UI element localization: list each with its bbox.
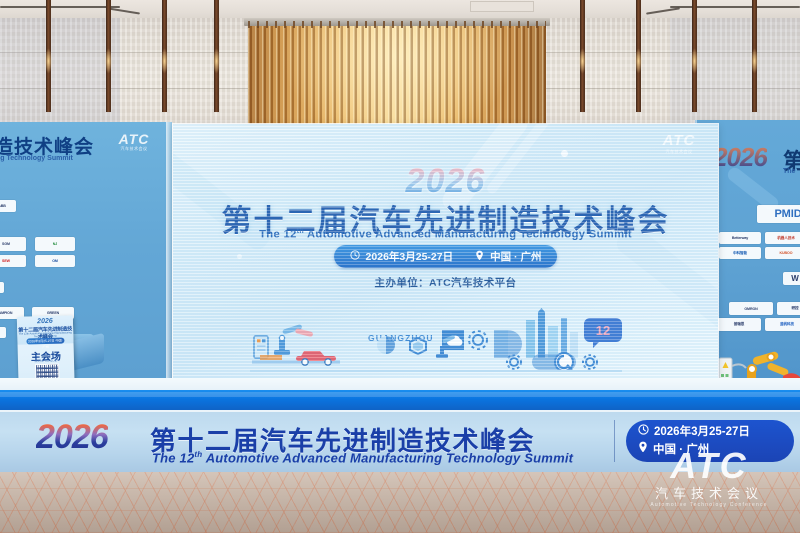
ceiling-cable-right xyxy=(670,6,800,8)
screen-title-en-base: The 12 xyxy=(259,229,297,241)
sponsor-logo: SEW xyxy=(0,255,26,267)
banner-top-line xyxy=(0,410,800,412)
screen-dot xyxy=(561,150,568,157)
screen-location: 中国 · 广州 xyxy=(490,249,541,264)
sponsor-logo: ABB xyxy=(0,200,16,212)
sponsor-logo: Betterway xyxy=(719,232,761,244)
screen-illustration: GUANGZHOU xyxy=(173,308,718,378)
clock-icon xyxy=(638,424,649,441)
left-board-edge xyxy=(166,122,173,400)
banner-title-en-sup: th xyxy=(194,450,202,459)
screen-host-line: 主办单位：ATC汽车技术平台 xyxy=(173,275,718,290)
gold-curtain xyxy=(248,18,546,130)
sponsor-logo: W xyxy=(783,272,800,285)
watermark-atc-cn: 汽车技术会议 xyxy=(624,487,794,500)
watermark-atc-en: Automotive Technology Conference xyxy=(624,503,794,508)
wall-shadow-left xyxy=(0,18,120,130)
wall-light-glow xyxy=(751,48,758,74)
curtain-hooks xyxy=(248,21,546,28)
wall-light-glow xyxy=(579,48,586,74)
banner-year: 2026 xyxy=(36,418,108,457)
sponsor-logo: 普瑞思 xyxy=(717,318,761,331)
banner-divider xyxy=(614,420,615,462)
conference-hall-photo: 造技术峰会 ing Technology Summit ATC 汽车技术会议 S… xyxy=(0,0,800,533)
stage-front-highlight xyxy=(0,392,800,397)
wall-light-glow xyxy=(45,48,52,74)
screen-date: 2026年3月25-27日 xyxy=(366,249,454,264)
pin-icon xyxy=(475,250,484,264)
banner-title-en-base: The 12 xyxy=(152,450,194,465)
screen-atc-text: ATC xyxy=(652,133,706,148)
sponsor-logo: KUBOO xyxy=(765,247,800,259)
sponsor-logo: NJ xyxy=(35,237,75,251)
main-led-screen: ATC ATC 汽车技术会议 2026 第十二届汽车先进制造技术峰会 The 1… xyxy=(173,124,718,382)
screen-atc-logo: ATC 汽车技术会议 xyxy=(652,133,706,154)
sponsor-logo: G-TECH xyxy=(0,282,4,293)
sponsor-logo: OMRON xyxy=(729,302,773,315)
left-board-atc-sub: 汽车技术会议 xyxy=(110,147,158,151)
banner-title-en-rest: Automotive Advanced Manufacturing Techno… xyxy=(206,450,573,465)
banner-atc-watermark: ATC 汽车技术会议 Automotive Technology Confere… xyxy=(624,448,794,508)
screen-date-location-pill: 2026年3月25-27日 中国 · 广州 xyxy=(334,245,558,268)
banner-title-en: The 12th Automotive Advanced Manufacturi… xyxy=(152,450,573,465)
sign-subtitle-bar: 2026年3月25-27日 中国·广州 xyxy=(26,338,64,345)
wall-light-glow xyxy=(635,48,642,74)
clock-icon xyxy=(350,250,360,263)
screen-title-en: The 12th Automotive Advanced Manufacturi… xyxy=(173,228,718,241)
left-board-title-en: ing Technology Summit xyxy=(0,155,73,162)
left-board-atc-logo: ATC 汽车技术会议 xyxy=(110,132,158,151)
screen-title-en-sup: th xyxy=(297,228,304,235)
screen-atc-subtitle: 汽车技术会议 xyxy=(652,150,706,154)
stage-deck xyxy=(0,378,800,390)
sponsor-logo: 中科智能 xyxy=(719,247,761,259)
wall-shadow-right xyxy=(670,18,800,130)
wall-light-glow xyxy=(161,48,168,74)
wall-light-glow xyxy=(213,48,220,74)
sponsor-logo: OM xyxy=(35,255,75,267)
ceiling-vent xyxy=(470,1,534,12)
screen-title-en-rest: Automotive Advanced Manufacturing Techno… xyxy=(307,229,632,241)
watermark-atc-text: ATC xyxy=(624,448,794,484)
sponsor-logo: 机器人技术 xyxy=(765,232,800,244)
curtain-fabric xyxy=(248,25,546,130)
left-board-atc-text: ATC xyxy=(110,132,158,146)
illustration-svg: GUANGZHOU xyxy=(246,308,646,376)
curtain-pleats xyxy=(248,25,546,130)
sponsor-logo: KAI xyxy=(0,327,6,338)
sponsor-logo: 研控 xyxy=(777,302,800,315)
sign-main-label-en: MAIN VENUE xyxy=(18,358,74,363)
illustration-badge: 12 xyxy=(584,318,622,348)
right-board-title-en: The xyxy=(783,168,795,175)
wall-light-glow xyxy=(105,48,112,74)
banner-date: 2026年3月25-27日 xyxy=(654,424,750,441)
sponsor-logo-pmid: PMID xyxy=(757,205,800,223)
banner-date-row: 2026年3月25-27日 xyxy=(638,424,794,441)
sponsor-logo: 蓝帆科技 xyxy=(765,318,800,331)
svg-text:12: 12 xyxy=(595,323,609,338)
right-board-year: 2026 xyxy=(713,142,767,173)
sign-year: 2026 xyxy=(17,317,73,325)
wall-light-glow xyxy=(691,48,698,74)
screen-dot xyxy=(237,254,242,259)
sponsor-logo: SGM xyxy=(0,237,26,251)
ceiling-cable-left xyxy=(0,6,120,8)
